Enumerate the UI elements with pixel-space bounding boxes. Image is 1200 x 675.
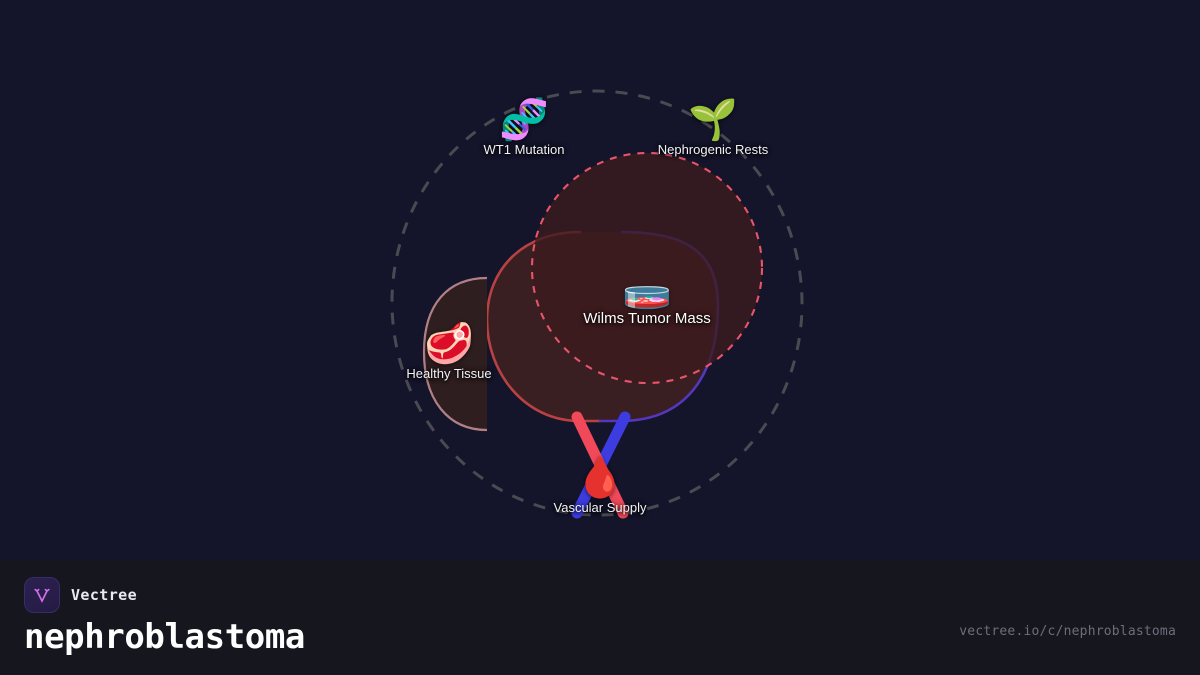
brand-name: Vectree	[71, 586, 137, 604]
footer-url: vectree.io/c/nephroblastoma	[959, 624, 1176, 639]
seedling-emoji: 🌱	[658, 98, 769, 142]
dna-emoji: 🧬	[484, 98, 565, 142]
node-label-healthy-tissue: Healthy Tissue	[406, 366, 491, 382]
screenshot-root: 🧬 WT1 Mutation 🌱 Nephrogenic Rests 🧫 Wil…	[0, 0, 1200, 675]
diagram-canvas[interactable]: 🧬 WT1 Mutation 🌱 Nephrogenic Rests 🧫 Wil…	[0, 0, 1200, 560]
node-label-wilms-tumor-mass: Wilms Tumor Mass	[583, 310, 711, 328]
node-nephrogenic-rests[interactable]: 🌱 Nephrogenic Rests	[658, 98, 769, 158]
node-wt1-mutation[interactable]: 🧬 WT1 Mutation	[484, 98, 565, 158]
node-wilms-tumor-mass[interactable]: 🧫 Wilms Tumor Mass	[583, 266, 711, 328]
drop-of-blood-emoji: 🩸	[554, 456, 647, 500]
vectree-v-logo-icon	[24, 577, 60, 613]
footer-bar: Vectree nephroblastoma	[0, 560, 1200, 675]
node-label-vascular-supply: Vascular Supply	[554, 500, 647, 516]
cut-of-meat-emoji: 🥩	[406, 322, 491, 366]
petri-dish-emoji: 🧫	[583, 266, 711, 310]
node-healthy-tissue[interactable]: 🥩 Healthy Tissue	[406, 322, 491, 382]
page-title: nephroblastoma	[24, 617, 305, 657]
node-label-wt1-mutation: WT1 Mutation	[484, 142, 565, 158]
node-vascular-supply[interactable]: 🩸 Vascular Supply	[554, 456, 647, 516]
brand-row[interactable]: Vectree	[24, 577, 137, 613]
node-label-nephrogenic-rests: Nephrogenic Rests	[658, 142, 769, 158]
